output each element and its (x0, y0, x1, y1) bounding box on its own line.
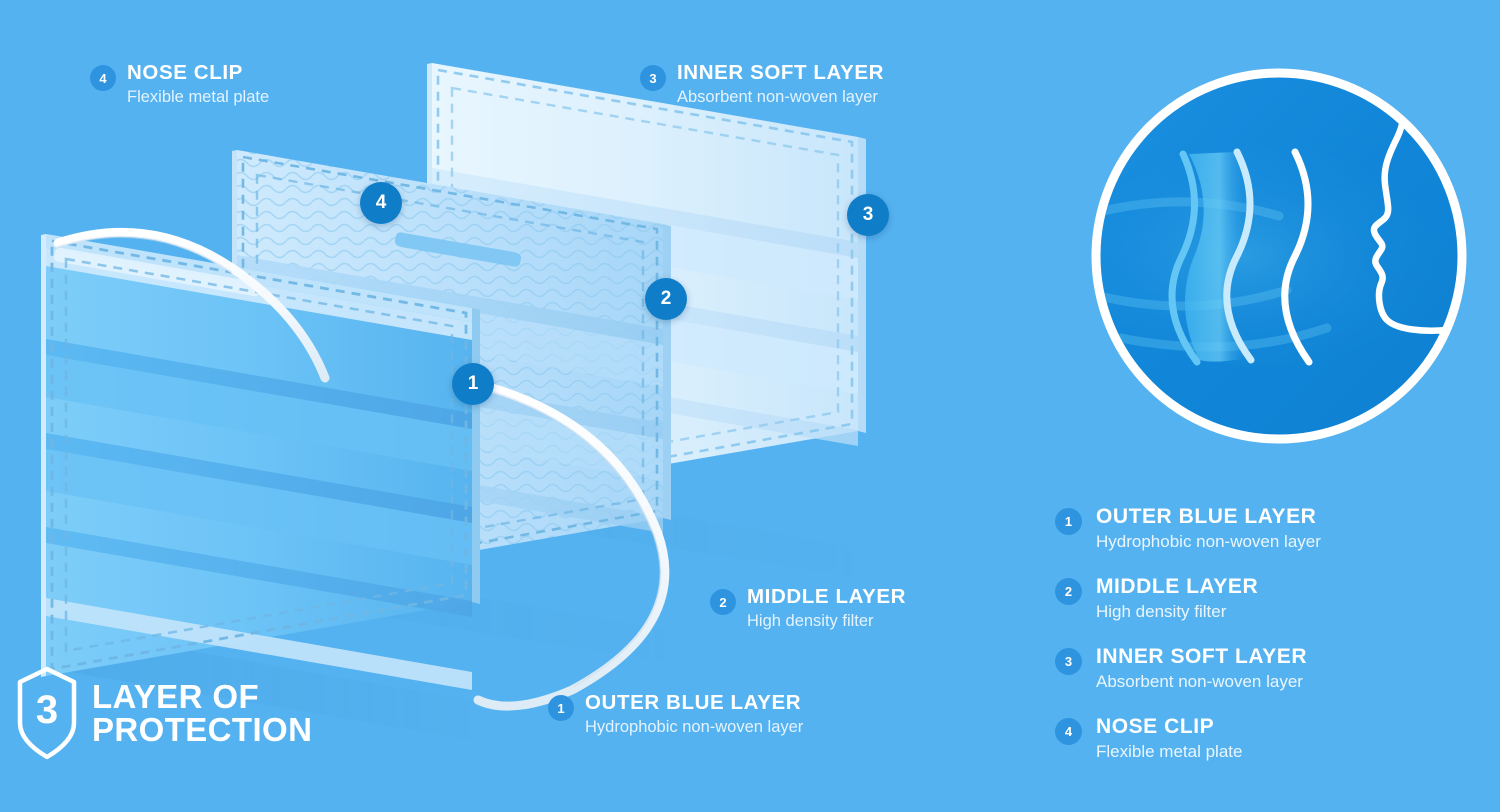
legend-text-3: INNER SOFT LAYER Absorbent non-woven lay… (1096, 645, 1307, 692)
legend-subtitle-3: Absorbent non-woven layer (1096, 672, 1307, 692)
shield-protection-badge: 3 LAYER OF PROTECTION (16, 665, 312, 761)
callout-middle-title: MIDDLE LAYER (747, 586, 906, 609)
legend-item-middle[interactable]: 2 MIDDLE LAYER High density filter (1055, 575, 1475, 622)
callout-outer-blue-number: 1 (557, 702, 564, 715)
callout-inner-soft-title: INNER SOFT LAYER (677, 62, 884, 85)
pin-4-label: 4 (376, 192, 387, 214)
callout-nose-clip-badge: 4 (90, 65, 116, 91)
legend-badge-1: 1 (1055, 508, 1082, 535)
legend-title-3: INNER SOFT LAYER (1096, 645, 1307, 669)
legend-title-2: MIDDLE LAYER (1096, 575, 1258, 599)
pin-3-label: 3 (863, 204, 874, 226)
legend-number-3: 3 (1065, 654, 1072, 669)
pin-marker-1[interactable]: 1 (452, 363, 494, 405)
callout-middle-layer[interactable]: 2 MIDDLE LAYER High density filter (710, 586, 906, 630)
callout-inner-soft-number: 3 (649, 72, 656, 85)
callout-outer-blue-layer[interactable]: 1 OUTER BLUE LAYER Hydrophobic non-woven… (548, 692, 803, 736)
shield-number: 3 (16, 665, 78, 761)
callout-inner-soft-subtitle: Absorbent non-woven layer (677, 88, 884, 106)
shield-line-1: LAYER OF (92, 678, 259, 715)
callout-inner-soft-badge: 3 (640, 65, 666, 91)
layer-legend-list: 1 OUTER BLUE LAYER Hydrophobic non-woven… (1055, 505, 1475, 762)
infographic-canvas: 1 2 3 4 4 NOSE CLIP Flexible metal plate… (0, 0, 1500, 812)
pin-1-label: 1 (468, 373, 479, 395)
callout-middle-badge: 2 (710, 589, 736, 615)
shield-line-2: PROTECTION (92, 713, 312, 746)
pin-marker-2[interactable]: 2 (645, 278, 687, 320)
legend-number-1: 1 (1065, 514, 1072, 529)
callout-outer-blue-badge: 1 (548, 695, 574, 721)
legend-item-outer-blue[interactable]: 1 OUTER BLUE LAYER Hydrophobic non-woven… (1055, 505, 1475, 552)
legend-badge-4: 4 (1055, 718, 1082, 745)
legend-text-2: MIDDLE LAYER High density filter (1096, 575, 1258, 622)
shield-text: LAYER OF PROTECTION (92, 680, 312, 746)
callout-middle-text: MIDDLE LAYER High density filter (747, 586, 906, 630)
legend-title-1: OUTER BLUE LAYER (1096, 505, 1321, 529)
legend-subtitle-2: High density filter (1096, 602, 1258, 622)
callout-outer-blue-title: OUTER BLUE LAYER (585, 692, 803, 715)
callout-nose-clip-subtitle: Flexible metal plate (127, 88, 269, 106)
callout-middle-number: 2 (719, 596, 726, 609)
callout-nose-clip-title: NOSE CLIP (127, 62, 269, 85)
callout-nose-clip[interactable]: 4 NOSE CLIP Flexible metal plate (90, 62, 269, 106)
callout-inner-soft-layer[interactable]: 3 INNER SOFT LAYER Absorbent non-woven l… (640, 62, 884, 106)
legend-title-4: NOSE CLIP (1096, 715, 1242, 739)
pin-marker-3[interactable]: 3 (847, 194, 889, 236)
callout-nose-clip-text: NOSE CLIP Flexible metal plate (127, 62, 269, 106)
callout-outer-blue-text: OUTER BLUE LAYER Hydrophobic non-woven l… (585, 692, 803, 736)
pin-marker-4[interactable]: 4 (360, 182, 402, 224)
legend-badge-2: 2 (1055, 578, 1082, 605)
callout-inner-soft-text: INNER SOFT LAYER Absorbent non-woven lay… (677, 62, 884, 106)
legend-subtitle-4: Flexible metal plate (1096, 742, 1242, 762)
pin-2-label: 2 (661, 288, 672, 310)
legend-text-4: NOSE CLIP Flexible metal plate (1096, 715, 1242, 762)
legend-subtitle-1: Hydrophobic non-woven layer (1096, 532, 1321, 552)
callout-nose-clip-number: 4 (99, 72, 106, 85)
callout-outer-blue-subtitle: Hydrophobic non-woven layer (585, 718, 803, 736)
legend-item-inner-soft[interactable]: 3 INNER SOFT LAYER Absorbent non-woven l… (1055, 645, 1475, 692)
shield-icon: 3 (16, 665, 78, 761)
legend-number-4: 4 (1065, 724, 1072, 739)
callout-middle-subtitle: High density filter (747, 612, 906, 630)
legend-item-nose-clip[interactable]: 4 NOSE CLIP Flexible metal plate (1055, 715, 1475, 762)
legend-badge-3: 3 (1055, 648, 1082, 675)
legend-number-2: 2 (1065, 584, 1072, 599)
face-profile-circle-illustration (1085, 62, 1473, 450)
legend-text-1: OUTER BLUE LAYER Hydrophobic non-woven l… (1096, 505, 1321, 552)
